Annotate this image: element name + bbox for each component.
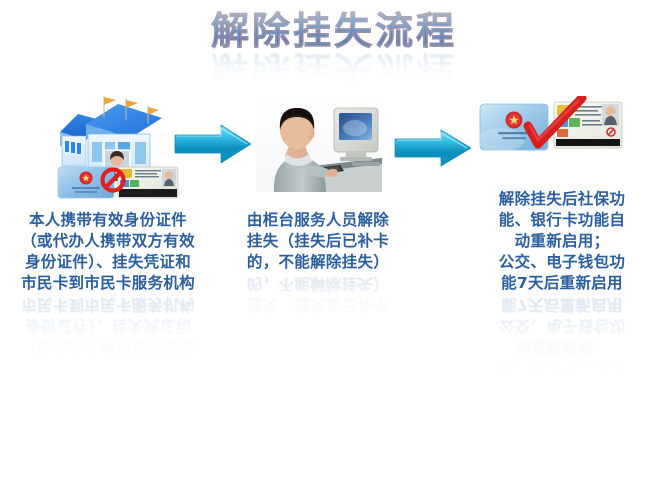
page-title-text: 解除挂失流程 [211,12,457,50]
resident-id-card [554,102,622,148]
step-2-caption: 由柜台服务人员解除 挂失（挂失后已补卡 的，不能解除挂失） [228,210,408,273]
counter-staff-at-computer-photo [256,96,382,192]
step-2-image [256,96,382,192]
step-1-caption-reflection: 本人携带有效身份证件 （或代办人携带双方有效 身份证件）、挂失凭证和 市民卡到市… [2,294,214,378]
service-center-building-icon [56,88,180,200]
step-1-image [56,88,180,200]
arrow-step1-to-step2 [173,123,253,176]
page-title: 解除挂失流程 解除挂失流程 [0,12,668,89]
arrow-step2-to-step3 [393,128,473,179]
step-3-caption: 解除挂失后社保功 能、银行卡功能自 动重新启用； 公交、电子钱包功 能7天后重新… [462,189,662,294]
slide-canvas: 解除挂失流程 解除挂失流程 [0,0,668,497]
page-title-reflection: 解除挂失流程 [0,51,668,89]
step-2-caption-reflection: 由柜台服务人员解除 挂失（挂失后已补卡 的，不能解除挂失） [228,273,408,336]
step-1-caption: 本人携带有效身份证件 （或代办人携带双方有效 身份证件）、挂失凭证和 市民卡到市… [2,210,214,294]
step-3-image [478,96,624,168]
cards-approved-icon [478,96,624,168]
step-3-caption-reflection: 解除挂失后社保功 能、银行卡功能自 动重新启用； 公交、电子钱包功 能7天后重新… [462,294,662,399]
resident-id-card [118,167,178,198]
